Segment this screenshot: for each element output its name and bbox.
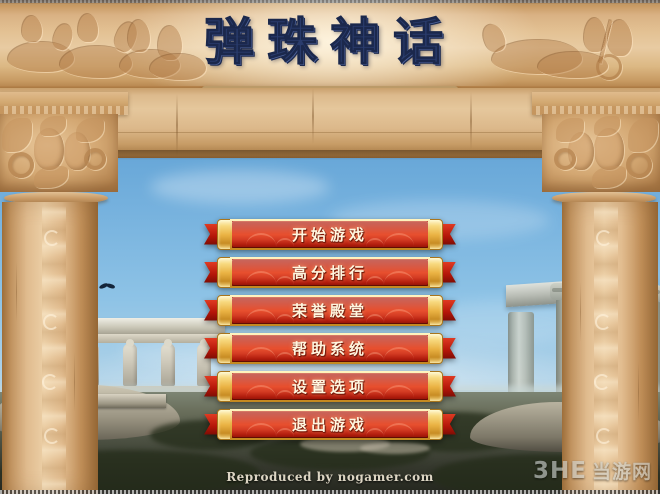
menu-row: 退出游戏 xyxy=(0,408,660,440)
menu-button-help-system[interactable]: 帮助系统 xyxy=(217,333,443,364)
column-capital xyxy=(542,114,660,192)
menu-button-exit-game[interactable]: 退出游戏 xyxy=(217,409,443,440)
site-watermark: 3HE 当游网 xyxy=(533,457,652,484)
capital-volute xyxy=(626,152,652,178)
menu-button-label: 高分排行 xyxy=(217,257,443,288)
menu-button-label: 退出游戏 xyxy=(217,409,443,440)
watermark-latin: 3HE xyxy=(533,458,587,484)
menu-row: 高分排行 xyxy=(0,256,660,288)
menu-row: 开始游戏 xyxy=(0,218,660,250)
bottom-edge-dither xyxy=(0,490,660,494)
cloud-wisp xyxy=(150,170,330,204)
stone-crack xyxy=(312,88,314,144)
stone-crack xyxy=(470,92,472,150)
menu-row: 帮助系统 xyxy=(0,332,660,364)
menu-button-label: 帮助系统 xyxy=(217,333,443,364)
menu-button-hall-of-fame[interactable]: 荣誉殿堂 xyxy=(217,295,443,326)
capital-acanthus-leaf xyxy=(76,118,104,142)
menu-button-label: 开始游戏 xyxy=(217,219,443,250)
menu-button-settings-options[interactable]: 设置选项 xyxy=(217,371,443,402)
capital-acanthus-leaf xyxy=(628,118,658,152)
menu-button-start-game[interactable]: 开始游戏 xyxy=(217,219,443,250)
menu-button-label: 荣誉殿堂 xyxy=(217,295,443,326)
capital-volute xyxy=(554,148,576,170)
capital-acanthus-leaf xyxy=(2,118,32,152)
menu-row: 荣誉殿堂 xyxy=(0,294,660,326)
menu-row: 设置选项 xyxy=(0,370,660,402)
menu-button-high-score[interactable]: 高分排行 xyxy=(217,257,443,288)
capital-acanthus-leaf xyxy=(40,116,66,136)
main-menu: 开始游戏 高分排行 xyxy=(0,218,660,446)
top-edge-dither xyxy=(0,0,660,3)
watermark-chinese: 当游网 xyxy=(592,457,652,484)
column-abacus xyxy=(532,92,660,114)
capital-volute xyxy=(8,152,34,178)
column-capital xyxy=(0,114,118,192)
stone-crack xyxy=(176,94,178,156)
capital-palmette xyxy=(34,166,68,188)
capital-palmette xyxy=(592,166,626,188)
game-main-menu-screen: 弹珠神话 欢迎您，Nogamer ✽❧ 免费用户 ❧✽ xyxy=(0,0,660,494)
capital-volute xyxy=(84,148,106,170)
menu-button-label: 设置选项 xyxy=(217,371,443,402)
game-title: 弹珠神话 xyxy=(0,11,660,73)
column-abacus xyxy=(0,92,128,114)
